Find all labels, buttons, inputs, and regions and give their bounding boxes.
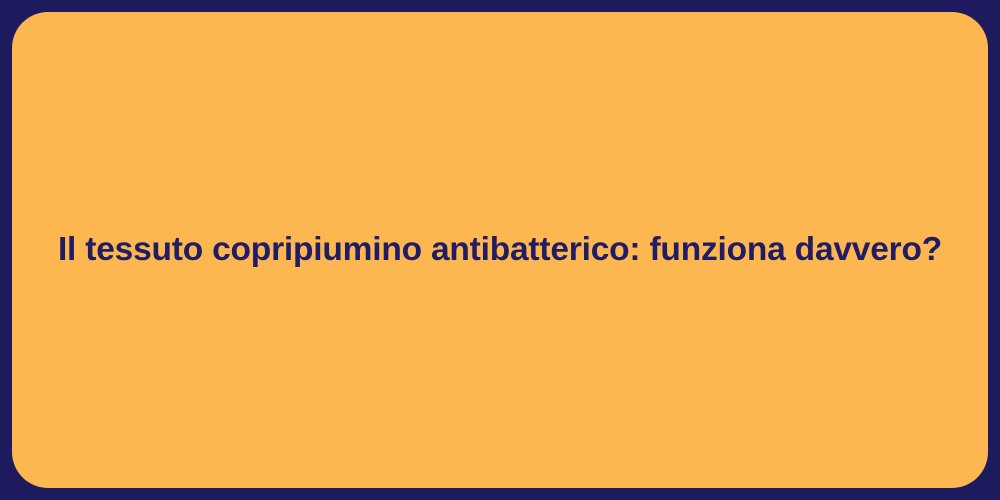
hero-card-panel: Il tessuto copripiumino antibatterico: f… [12, 12, 988, 488]
page-title: Il tessuto copripiumino antibatterico: f… [58, 229, 942, 271]
headline-container: Il tessuto copripiumino antibatterico: f… [12, 229, 988, 271]
hero-card-frame: Il tessuto copripiumino antibatterico: f… [0, 0, 1000, 500]
